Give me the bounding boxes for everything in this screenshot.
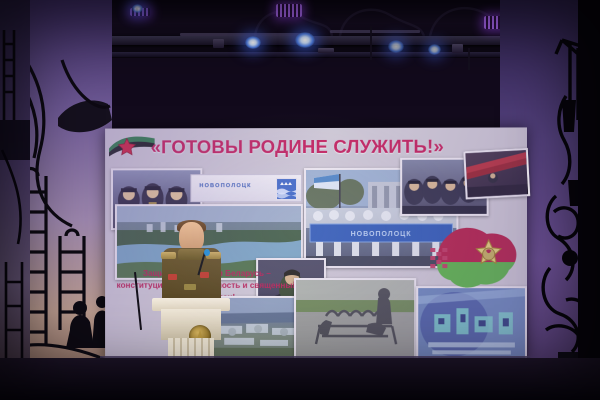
photo-bronze-bench-sculpture <box>294 278 416 362</box>
microphone-head-icon <box>204 249 210 256</box>
photo-refinery-interior <box>416 286 527 360</box>
spotlight-icon <box>132 4 143 13</box>
left-inner-pillar <box>0 0 30 400</box>
truss-bar <box>330 30 420 33</box>
right-dark-edge <box>578 0 600 400</box>
photo-red-flag-ceremony <box>463 148 530 200</box>
cable <box>370 26 372 60</box>
spotlight-icon <box>428 44 441 55</box>
stage-floor <box>0 358 600 400</box>
left-inner-line-art <box>0 0 30 400</box>
city-coat-of-arms-icon <box>276 178 297 200</box>
speaker-medal <box>200 272 209 278</box>
light-fixture <box>213 39 224 48</box>
light-fixture <box>452 44 463 53</box>
led-panel-icon <box>276 4 302 17</box>
city-label-text: НОВОПОЛОЦК <box>199 183 251 189</box>
speaker-epaulet-left <box>161 252 176 259</box>
svg-text:НОВОПОЛОЦК: НОВОПОЛОЦК <box>351 231 412 238</box>
speaker-badge <box>184 284 196 290</box>
truss-bar <box>180 33 310 36</box>
spotlight-icon <box>388 40 404 53</box>
city-label-band: НОВОПОЛОЦК <box>190 174 302 202</box>
speaker-medal <box>168 274 177 280</box>
star-ribbon-icon <box>109 132 157 158</box>
spotlight-icon <box>295 32 315 48</box>
stage-scene: «ГОТОВЫ РОДИНЕ СЛУЖИТЬ!» <box>0 0 600 400</box>
light-fixture <box>318 48 334 53</box>
spotlight-icon <box>245 36 261 49</box>
podium-body <box>161 309 221 340</box>
cable <box>468 48 470 70</box>
belarus-map-flag-emblem <box>426 224 523 296</box>
